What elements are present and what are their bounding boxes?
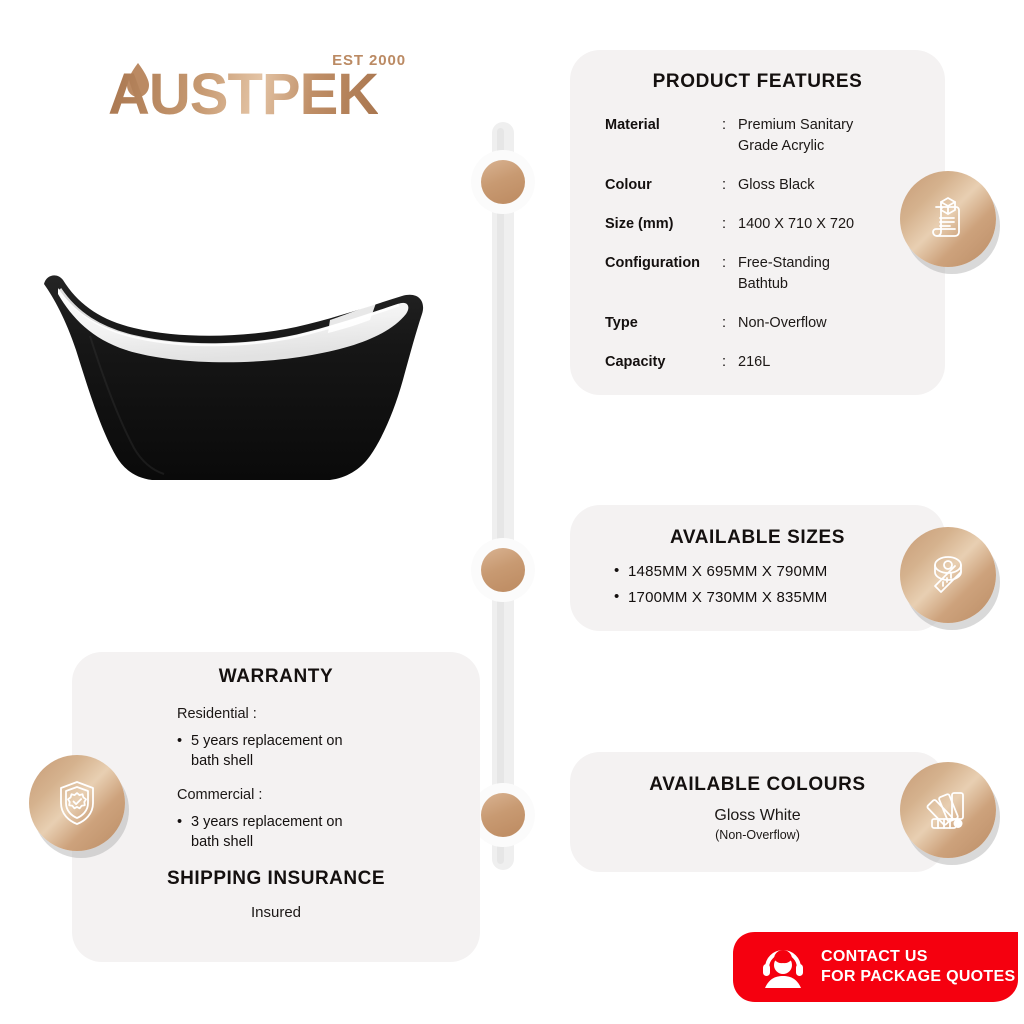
product-features-panel: PRODUCT FEATURES Material : Premium Sani… bbox=[570, 50, 945, 395]
product-spec-sheet: EST 2000 AUSTPEK bbox=[0, 0, 1024, 1024]
warranty-body: Residential : 5 years replacement on bat… bbox=[177, 706, 480, 852]
available-sizes-list: 1485MM X 695MM X 790MM 1700MM X 730MM X … bbox=[614, 563, 945, 606]
table-row: Size (mm) : 1400 X 710 X 720 bbox=[605, 214, 945, 235]
spec-colon: : bbox=[722, 253, 738, 295]
brand-name: AUSTPEK bbox=[108, 66, 378, 124]
list-item: 5 years replacement on bath shell bbox=[177, 732, 480, 771]
spec-value: Premium Sanitary Grade Acrylic bbox=[738, 115, 853, 157]
spec-value: Non-Overflow bbox=[738, 313, 827, 334]
spec-colon: : bbox=[722, 115, 738, 157]
spec-key: Type bbox=[605, 313, 722, 334]
available-colours-badge bbox=[900, 762, 996, 858]
headset-support-agent-icon bbox=[759, 946, 807, 990]
product-features-badge bbox=[900, 171, 996, 267]
spec-value: 1400 X 710 X 720 bbox=[738, 214, 854, 235]
shipping-insurance-value: Insured bbox=[72, 904, 480, 921]
available-sizes-title: AVAILABLE SIZES bbox=[570, 527, 945, 549]
spec-key: Material bbox=[605, 115, 722, 157]
spec-colon: : bbox=[722, 214, 738, 235]
warranty-commercial-label: Commercial : bbox=[177, 787, 480, 803]
available-sizes-panel: AVAILABLE SIZES 1485MM X 695MM X 790MM 1… bbox=[570, 505, 945, 631]
warranty-badge bbox=[29, 755, 125, 851]
colour-name: Gloss White bbox=[570, 807, 945, 825]
table-row: Type : Non-Overflow bbox=[605, 313, 945, 334]
list-item: 1700MM X 730MM X 835MM bbox=[614, 589, 945, 606]
spec-key: Configuration bbox=[605, 253, 722, 295]
spec-colon: : bbox=[722, 352, 738, 373]
warranty-residential-label: Residential : bbox=[177, 706, 480, 722]
warranty-title: WARRANTY bbox=[72, 666, 480, 688]
available-colours-title: AVAILABLE COLOURS bbox=[570, 774, 945, 796]
spec-key: Colour bbox=[605, 175, 722, 196]
available-colours-panel: AVAILABLE COLOURS Gloss White (Non-Overf… bbox=[570, 752, 945, 872]
spec-colon: : bbox=[722, 175, 738, 196]
table-row: Colour : Gloss Black bbox=[605, 175, 945, 196]
contact-us-banner[interactable]: CONTACT US FOR PACKAGE QUOTES bbox=[733, 932, 1018, 1002]
contact-banner-text: CONTACT US FOR PACKAGE QUOTES bbox=[821, 947, 1015, 988]
spec-key: Size (mm) bbox=[605, 214, 722, 235]
list-item: 1485MM X 695MM X 790MM bbox=[614, 563, 945, 580]
colour-note: (Non-Overflow) bbox=[570, 828, 945, 842]
available-sizes-badge bbox=[900, 527, 996, 623]
product-features-table: Material : Premium Sanitary Grade Acryli… bbox=[605, 115, 945, 373]
table-row: Capacity : 216L bbox=[605, 352, 945, 373]
colour-swatch-fan-icon bbox=[923, 785, 973, 835]
spec-value: 216L bbox=[738, 352, 770, 373]
bathtub-product-image bbox=[30, 258, 430, 493]
measuring-tape-icon bbox=[923, 550, 973, 600]
spec-value: Gloss Black bbox=[738, 175, 815, 196]
brand-logo: EST 2000 AUSTPEK bbox=[108, 52, 408, 132]
spec-key: Capacity bbox=[605, 352, 722, 373]
spec-colon: : bbox=[722, 313, 738, 334]
product-features-title: PRODUCT FEATURES bbox=[570, 71, 945, 93]
list-item: 3 years replacement on bath shell bbox=[177, 813, 480, 852]
table-row: Material : Premium Sanitary Grade Acryli… bbox=[605, 115, 945, 157]
spec-value: Free-Standing Bathtub bbox=[738, 253, 830, 295]
shipping-insurance-title: SHIPPING INSURANCE bbox=[72, 868, 480, 890]
clipboard-product-icon bbox=[923, 194, 973, 244]
warranty-panel: WARRANTY Residential : 5 years replaceme… bbox=[72, 652, 480, 962]
shield-check-icon bbox=[52, 778, 102, 828]
table-row: Configuration : Free-Standing Bathtub bbox=[605, 253, 945, 295]
